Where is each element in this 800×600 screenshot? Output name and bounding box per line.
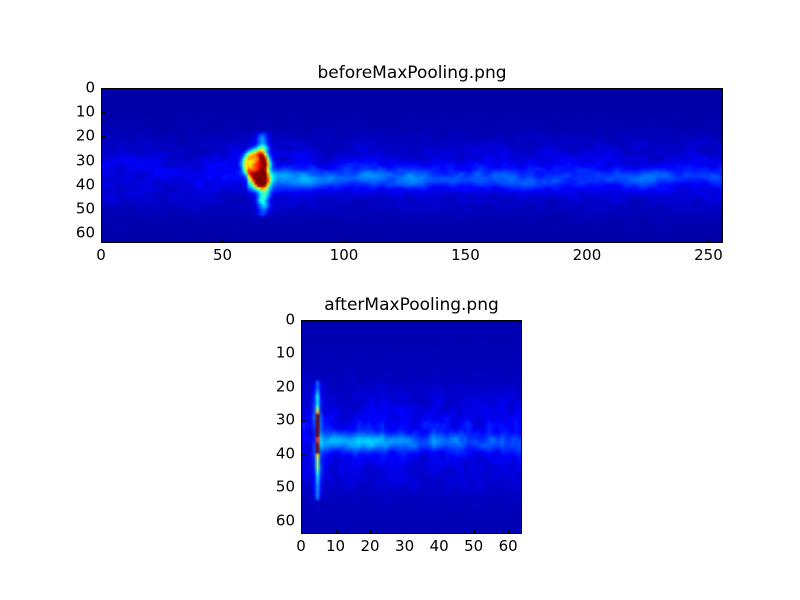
x-ticklabel-before-max-pooling: 200 xyxy=(573,248,602,263)
y-tick-after-max-pooling xyxy=(301,521,305,522)
y-tick-before-max-pooling xyxy=(101,136,105,137)
x-tick-after-max-pooling xyxy=(508,530,509,534)
y-tick-after-max-pooling xyxy=(301,454,305,455)
x-ticklabel-after-max-pooling: 40 xyxy=(430,539,449,554)
heatmap-image-after-max-pooling xyxy=(302,321,521,533)
y-ticklabel-before-max-pooling: 30 xyxy=(76,153,95,168)
x-ticklabel-before-max-pooling: 50 xyxy=(213,248,232,263)
x-ticklabel-before-max-pooling: 100 xyxy=(330,248,359,263)
y-ticklabel-before-max-pooling: 20 xyxy=(76,129,95,144)
y-tick-after-max-pooling xyxy=(301,320,305,321)
x-tick-after-max-pooling xyxy=(474,530,475,534)
y-ticklabel-after-max-pooling: 60 xyxy=(276,513,295,528)
y-tick-before-max-pooling xyxy=(101,88,105,89)
y-ticklabel-before-max-pooling: 50 xyxy=(76,202,95,217)
y-tick-before-max-pooling xyxy=(101,233,105,234)
x-ticklabel-after-max-pooling: 60 xyxy=(499,539,518,554)
x-ticklabel-after-max-pooling: 10 xyxy=(326,539,345,554)
y-ticklabel-after-max-pooling: 50 xyxy=(276,480,295,495)
y-ticklabel-after-max-pooling: 0 xyxy=(285,313,295,328)
x-ticklabel-before-max-pooling: 250 xyxy=(694,248,723,263)
x-ticklabel-after-max-pooling: 20 xyxy=(361,539,380,554)
y-tick-before-max-pooling xyxy=(101,112,105,113)
x-tick-after-max-pooling xyxy=(301,530,302,534)
x-ticklabel-after-max-pooling: 50 xyxy=(464,539,483,554)
x-tick-after-max-pooling xyxy=(405,530,406,534)
x-ticklabel-after-max-pooling: 30 xyxy=(395,539,414,554)
x-tick-before-max-pooling xyxy=(101,239,102,243)
y-ticklabel-before-max-pooling: 60 xyxy=(76,226,95,241)
x-ticklabel-before-max-pooling: 0 xyxy=(96,248,106,263)
y-ticklabel-before-max-pooling: 40 xyxy=(76,177,95,192)
x-tick-before-max-pooling xyxy=(587,239,588,243)
y-ticklabel-after-max-pooling: 10 xyxy=(276,346,295,361)
y-ticklabel-after-max-pooling: 40 xyxy=(276,446,295,461)
matplotlib-figure: beforeMaxPooling.png 0501001502002500102… xyxy=(0,0,800,600)
y-tick-after-max-pooling xyxy=(301,387,305,388)
y-ticklabel-after-max-pooling: 20 xyxy=(276,379,295,394)
y-ticklabel-before-max-pooling: 0 xyxy=(85,81,95,96)
axes-title-after-max-pooling: afterMaxPooling.png xyxy=(301,296,522,315)
x-ticklabel-before-max-pooling: 150 xyxy=(451,248,480,263)
x-tick-after-max-pooling xyxy=(439,530,440,534)
y-tick-after-max-pooling xyxy=(301,487,305,488)
y-tick-before-max-pooling xyxy=(101,185,105,186)
axes-title-before-max-pooling: beforeMaxPooling.png xyxy=(101,64,723,83)
x-tick-before-max-pooling xyxy=(465,239,466,243)
heatmap-axes-after-max-pooling[interactable] xyxy=(301,320,522,534)
x-tick-before-max-pooling xyxy=(344,239,345,243)
x-ticklabel-after-max-pooling: 0 xyxy=(296,539,306,554)
x-tick-before-max-pooling xyxy=(222,239,223,243)
x-tick-after-max-pooling xyxy=(336,530,337,534)
y-tick-before-max-pooling xyxy=(101,161,105,162)
heatmap-axes-before-max-pooling[interactable] xyxy=(101,88,723,243)
x-tick-after-max-pooling xyxy=(370,530,371,534)
y-ticklabel-after-max-pooling: 30 xyxy=(276,413,295,428)
y-tick-after-max-pooling xyxy=(301,420,305,421)
x-tick-before-max-pooling xyxy=(708,239,709,243)
y-tick-before-max-pooling xyxy=(101,209,105,210)
y-ticklabel-before-max-pooling: 10 xyxy=(76,105,95,120)
y-tick-after-max-pooling xyxy=(301,353,305,354)
heatmap-image-before-max-pooling xyxy=(102,89,722,242)
